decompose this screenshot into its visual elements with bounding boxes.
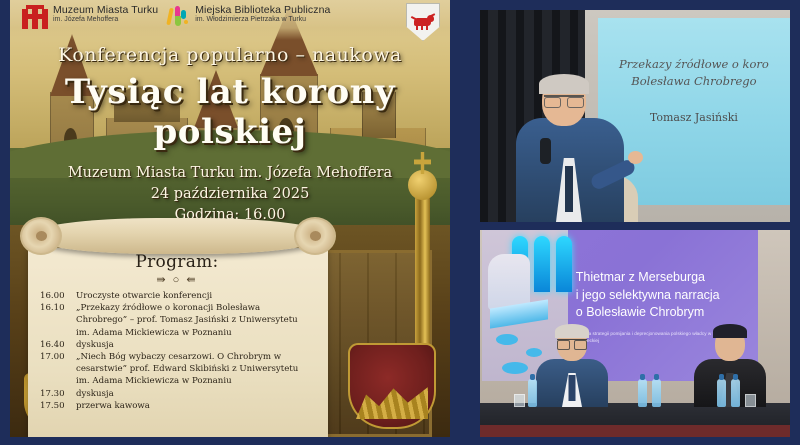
speaker-hair	[539, 74, 589, 94]
conference-title: Tysiąc lat korony polskiej	[10, 72, 450, 152]
conference-details: Muzeum Miasta Turku im. Józefa Mehoffera…	[10, 163, 450, 226]
panel-table	[480, 403, 790, 437]
slide-author: Tomasz Jasiński	[650, 111, 738, 124]
photo-collage: Muzeum Miasta Turku im. Józefa Mehoffera…	[0, 0, 800, 445]
program-desc: „Przekazy źródłowe o koronacji Bolesława…	[76, 302, 314, 339]
library-name: Miejska Biblioteka Publiczna	[195, 5, 330, 16]
water-bottle	[638, 379, 647, 407]
program-row: 16.00 Uroczyste otwarcie konferencji	[40, 290, 314, 302]
panelist-left-hair	[555, 324, 589, 338]
scribe-figure	[488, 254, 530, 310]
slide-title-line2: Bolesława Chrobrego	[631, 73, 756, 90]
museum-name: Muzeum Miasta Turku	[53, 5, 158, 16]
conference-panel-photo: Thietmar z Merseburga i jego selektywna …	[480, 230, 790, 437]
poster-header: Muzeum Miasta Turku im. Józefa Mehoffera…	[10, 0, 450, 40]
museum-logo-icon	[22, 5, 48, 29]
panelist-right-hair	[713, 324, 747, 338]
program-time: 16.00	[40, 290, 70, 302]
eagle-shield-icon	[348, 343, 436, 429]
program-time: 17.50	[40, 400, 70, 412]
program-list: 16.00 Uroczyste otwarcie konferencji 16.…	[40, 290, 314, 412]
scroll-curl-right	[294, 217, 336, 255]
speaker-tie	[565, 166, 573, 212]
program-time: 16.10	[40, 302, 70, 339]
program-heading: Program:	[40, 252, 314, 272]
program-row: 17.50 przerwa kawowa	[40, 400, 314, 412]
museum-logo-text: Muzeum Miasta Turku im. Józefa Mehoffera	[53, 4, 158, 23]
program-time: 16.40	[40, 339, 70, 351]
speaker-figure	[516, 72, 632, 222]
library-logo-block: Miejska Biblioteka Publiczna im. Włodzim…	[168, 4, 330, 29]
scroll-parchment: Program: ⇛ ○ ⇚ 16.00 Uroczyste otwarcie …	[28, 248, 328, 437]
program-desc: dyskusja	[76, 339, 314, 351]
slide-title-line1: Przekazy źródłowe o koro	[619, 56, 769, 73]
slide-title-line2: i jego selektywna narracja	[576, 287, 747, 304]
water-bottle	[717, 379, 726, 407]
program-scroll: Program: ⇛ ○ ⇚ 16.00 Uroczyste otwarcie …	[28, 218, 328, 437]
speaker-hand	[628, 151, 643, 164]
panelist-left	[536, 361, 608, 407]
red-bull-charge	[411, 14, 435, 30]
library-patron: im. Włodzimierza Pietrzaka w Turku	[195, 16, 330, 23]
program-row: 16.40 dyskusja	[40, 339, 314, 351]
program-row: 16.10 „Przekazy źródłowe o koronacji Bol…	[40, 302, 314, 339]
conference-venue: Muzeum Miasta Turku im. Józefa Mehoffera	[10, 163, 450, 184]
water-bottle	[731, 379, 740, 407]
table-cloth	[480, 425, 790, 437]
program-desc: „Niech Bóg wybaczy cesarzowi. O Chrobrym…	[76, 351, 314, 388]
slide-title-line1: Thietmar z Merseburga	[576, 269, 747, 286]
program-desc: dyskusja	[76, 388, 314, 400]
conference-kicker: Konferencja popularno – naukowa	[10, 44, 450, 66]
scepter-icon	[415, 196, 430, 356]
museum-patron: im. Józefa Mehoffera	[53, 16, 158, 23]
poster-title-block: Konferencja popularno – naukowa Tysiąc l…	[10, 44, 450, 226]
speaker-glasses	[544, 95, 584, 104]
microphone-icon	[540, 138, 551, 164]
conference-date: 24 października 2025	[10, 184, 450, 205]
scroll-curl-left	[20, 217, 62, 255]
library-logo-text: Miejska Biblioteka Publiczna im. Włodzim…	[195, 4, 330, 23]
drinking-glass	[514, 394, 525, 407]
program-row: 17.30 dyskusja	[40, 388, 314, 400]
water-bottle	[652, 379, 661, 407]
museum-logo-block: Muzeum Miasta Turku im. Józefa Mehoffera	[22, 4, 158, 29]
slide-title-line3: o Bolesławie Chrobrym	[576, 304, 747, 321]
drinking-glass	[745, 394, 756, 407]
program-divider: ⇛ ○ ⇚	[40, 273, 314, 286]
scroll-top-roll	[28, 218, 328, 254]
panelist-left-glasses	[557, 339, 587, 347]
program-desc: Uroczyste otwarcie konferencji	[76, 290, 314, 302]
library-logo-icon	[168, 5, 190, 29]
program-desc: przerwa kawowa	[76, 400, 314, 412]
water-bottle	[528, 379, 537, 407]
conference-speaker-photo: Przekazy źródłowe o koro Bolesława Chrob…	[480, 10, 790, 222]
program-time: 17.00	[40, 351, 70, 388]
turek-coat-of-arms-icon	[406, 3, 440, 41]
conference-poster: Muzeum Miasta Turku im. Józefa Mehoffera…	[10, 0, 450, 437]
program-time: 17.30	[40, 388, 70, 400]
program-row: 17.00 „Niech Bóg wybaczy cesarzowi. O Ch…	[40, 351, 314, 388]
